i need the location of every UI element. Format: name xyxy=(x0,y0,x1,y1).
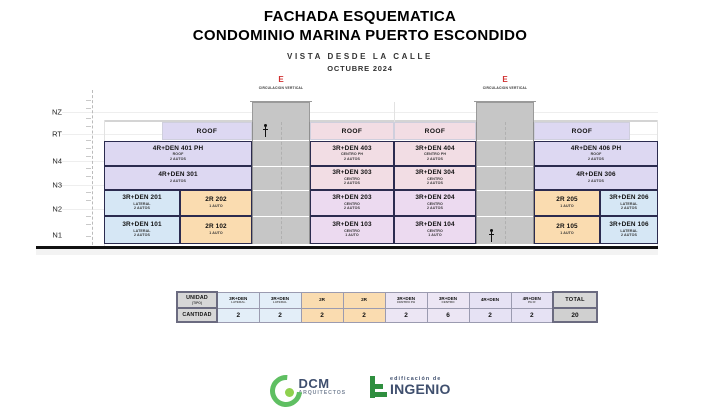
level-label-nz: NZ xyxy=(52,108,62,117)
table-row-cantidad: CANTIDAD 2 2 2 2 2 6 2 2 20 xyxy=(177,308,597,322)
logo-ingenio: edificación de INGENIO xyxy=(370,376,451,398)
unit-304[interactable]: 3R+DEN 304 CENTRO 2 AUTOS xyxy=(394,166,476,190)
logo-dcm-name: DCM xyxy=(298,377,346,390)
unit-202[interactable]: 2R 202 1 AUTO xyxy=(180,190,252,216)
unit-401-ph[interactable]: 4R+DEN 401 PH ROOF 2 AUTOS xyxy=(104,141,252,166)
ground-base xyxy=(36,249,658,255)
level-axis: NZ RT N4 N3 N2 N1 xyxy=(36,88,62,256)
unit-204[interactable]: 3R+DEN 204 CENTRO 2 AUTOS xyxy=(394,190,476,216)
table-qty-6: 2 xyxy=(469,308,511,322)
summary-table: UNIDAD (TIPO) 3R+DEN LATERAL 3R+DEN LATE… xyxy=(176,291,598,323)
table-qty-2: 2 xyxy=(301,308,343,322)
table-header-cantidad: CANTIDAD xyxy=(177,308,217,322)
e-block-icon xyxy=(370,376,387,398)
elevator-shaft-left xyxy=(252,122,310,244)
logo-ingenio-name: INGENIO xyxy=(390,382,451,396)
level-label-n3: N3 xyxy=(52,181,62,190)
page-subtitle: VISTA DESDE LA CALLE xyxy=(0,52,720,61)
unit-303[interactable]: 3R+DEN 303 CENTRO 2 AUTOS xyxy=(310,166,394,190)
level-label-n1: N1 xyxy=(52,231,62,240)
title-block: FACHADA ESQUEMATICA CONDOMINIO MARINA PU… xyxy=(0,0,720,73)
unit-104[interactable]: 3R+DEN 104 CENTRO 1 AUTO xyxy=(394,216,476,244)
logo-dcm-sub: ARQUITECTOS xyxy=(298,391,346,396)
page-date: OCTUBRE 2024 xyxy=(0,64,720,73)
table-col-3: 2R xyxy=(343,292,385,308)
roof-band-2: ROOF xyxy=(310,122,394,140)
unit-106[interactable]: 3R+DEN 106 LATERAL 2 AUTOS xyxy=(600,216,658,244)
elevator-label-left: E CIRCULACION VERTICAL xyxy=(252,76,310,90)
table-qty-5: 6 xyxy=(427,308,469,322)
unit-105[interactable]: 2R 105 1 AUTO xyxy=(534,216,600,244)
level-label-rt: RT xyxy=(52,130,62,139)
table-qty-7: 2 xyxy=(511,308,553,322)
page-title-line2: CONDOMINIO MARINA PUERTO ESCONDIDO xyxy=(0,27,720,46)
table-qty-4: 2 xyxy=(385,308,427,322)
table-col-4: 3R+DEN CENTRO PH xyxy=(385,292,427,308)
elevator-shaft-right-head xyxy=(476,102,534,122)
table-row-unidad: UNIDAD (TIPO) 3R+DEN LATERAL 3R+DEN LATE… xyxy=(177,292,597,308)
table-header-total: TOTAL xyxy=(553,292,597,308)
table-col-0: 3R+DEN LATERAL xyxy=(217,292,259,308)
roof-band-1: ROOF xyxy=(162,122,252,140)
dimension-line xyxy=(92,90,93,250)
roof-band-3: ROOF xyxy=(394,122,476,140)
table-qty-3: 2 xyxy=(343,308,385,322)
table-header-unidad: UNIDAD (TIPO) xyxy=(177,292,217,308)
table-col-6: 4R+DEN xyxy=(469,292,511,308)
table-col-5: 3R+DEN CENTRO xyxy=(427,292,469,308)
table-qty-0: 2 xyxy=(217,308,259,322)
roof-band-4: ROOF xyxy=(534,122,630,140)
unit-102[interactable]: 2R 102 1 AUTO xyxy=(180,216,252,244)
table-col-1: 3R+DEN LATERAL xyxy=(259,292,301,308)
elevator-shaft-right xyxy=(476,122,534,244)
logo-dcm-arquitectos: DCM ARQUITECTOS xyxy=(269,374,346,400)
unit-206[interactable]: 3R+DEN 206 LATERAL 2 AUTOS xyxy=(600,190,658,216)
logo-bar: DCM ARQUITECTOS edificación de INGENIO xyxy=(0,368,720,405)
unit-306[interactable]: 4R+DEN 306 2 AUTOS xyxy=(534,166,658,190)
level-label-n4: N4 xyxy=(52,157,62,166)
level-label-n2: N2 xyxy=(52,205,62,214)
person-icon-left xyxy=(262,124,269,137)
elevator-shaft-left-head xyxy=(252,102,310,122)
person-icon-right xyxy=(488,229,495,242)
swirl-icon xyxy=(269,374,295,400)
table-col-7: 4R+DEN PH R xyxy=(511,292,553,308)
table-col-2: 2R xyxy=(301,292,343,308)
unit-101[interactable]: 3R+DEN 101 LATERAL 2 AUTOS xyxy=(104,216,180,244)
facade-drawing: NZ RT N4 N3 N2 N1 ROOF ROOF ROOF ROOF xyxy=(0,88,720,256)
unit-406-ph[interactable]: 4R+DEN 406 PH ROOF 2 AUTOS xyxy=(534,141,658,166)
unit-301[interactable]: 4R+DEN 301 2 AUTOS xyxy=(104,166,252,190)
unit-201[interactable]: 3R+DEN 201 LATERAL 2 AUTOS xyxy=(104,190,180,216)
unit-203[interactable]: 3R+DEN 203 CENTRO 2 AUTOS xyxy=(310,190,394,216)
unit-205[interactable]: 2R 205 1 AUTO xyxy=(534,190,600,216)
table-qty-1: 2 xyxy=(259,308,301,322)
elevator-label-right: E CIRCULACION VERTICAL xyxy=(476,76,534,90)
unit-403[interactable]: 3R+DEN 403 CENTRO PH 2 AUTOS xyxy=(310,141,394,166)
building-section: ROOF ROOF ROOF ROOF 4R+DEN 401 PH ROOF 2… xyxy=(104,88,658,246)
page-title-line1: FACHADA ESQUEMATICA xyxy=(0,8,720,27)
unit-404[interactable]: 3R+DEN 404 CENTRO PH 2 AUTOS xyxy=(394,141,476,166)
table-total-value: 20 xyxy=(553,308,597,322)
unit-103[interactable]: 3R+DEN 103 CENTRO 1 AUTO xyxy=(310,216,394,244)
